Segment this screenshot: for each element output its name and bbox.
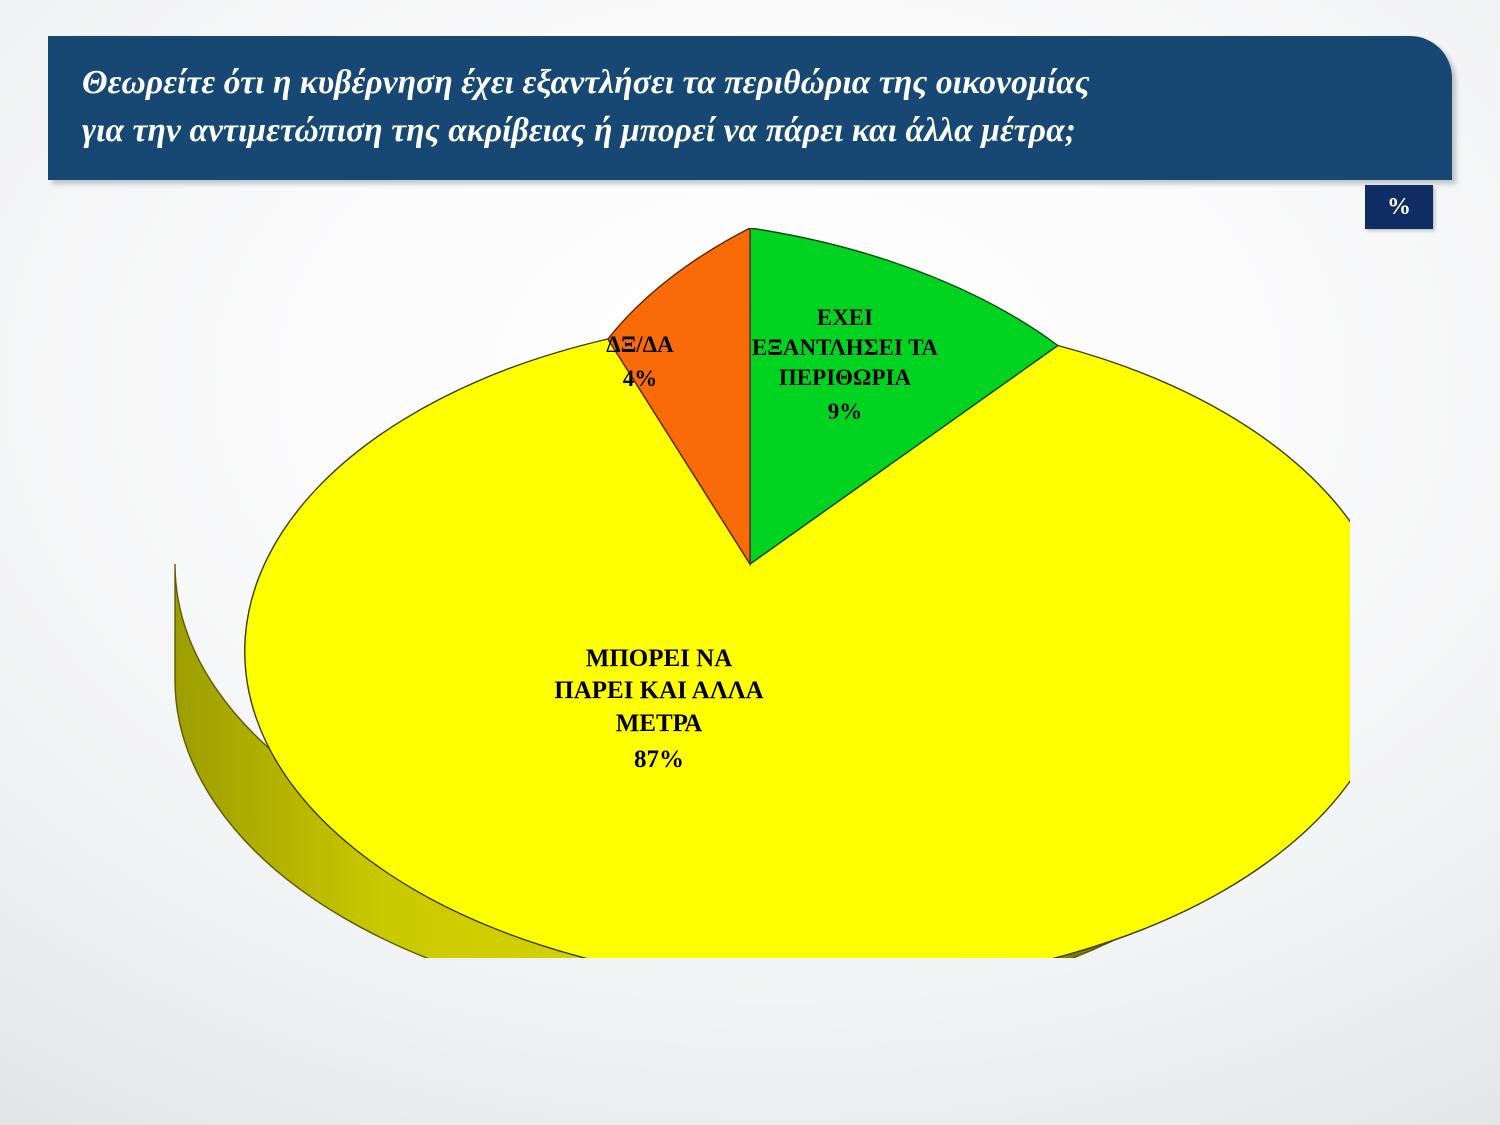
slide-root: Θεωρείτε ότι η κυβέρνηση έχει εξαντλήσει… bbox=[0, 0, 1500, 1125]
pie-chart: ΕΧΕΙ ΕΞΑΝΤΛΗΣΕΙ ΤΑ ΠΕΡΙΘΩΡΙΑ 9% ΔΞ/ΔΑ 4%… bbox=[150, 228, 1350, 958]
page-title: Θεωρείτε ότι η κυβέρνηση έχει εξαντλήσει… bbox=[82, 59, 1426, 154]
pie-top-face bbox=[245, 228, 1350, 958]
percent-unit-badge: % bbox=[1365, 185, 1433, 229]
title-bar: Θεωρείτε ότι η κυβέρνηση έχει εξαντλήσει… bbox=[48, 36, 1452, 180]
pie-chart-svg bbox=[150, 228, 1350, 958]
footer-bar: NEWS alco The pulse of society bbox=[0, 997, 1500, 1125]
